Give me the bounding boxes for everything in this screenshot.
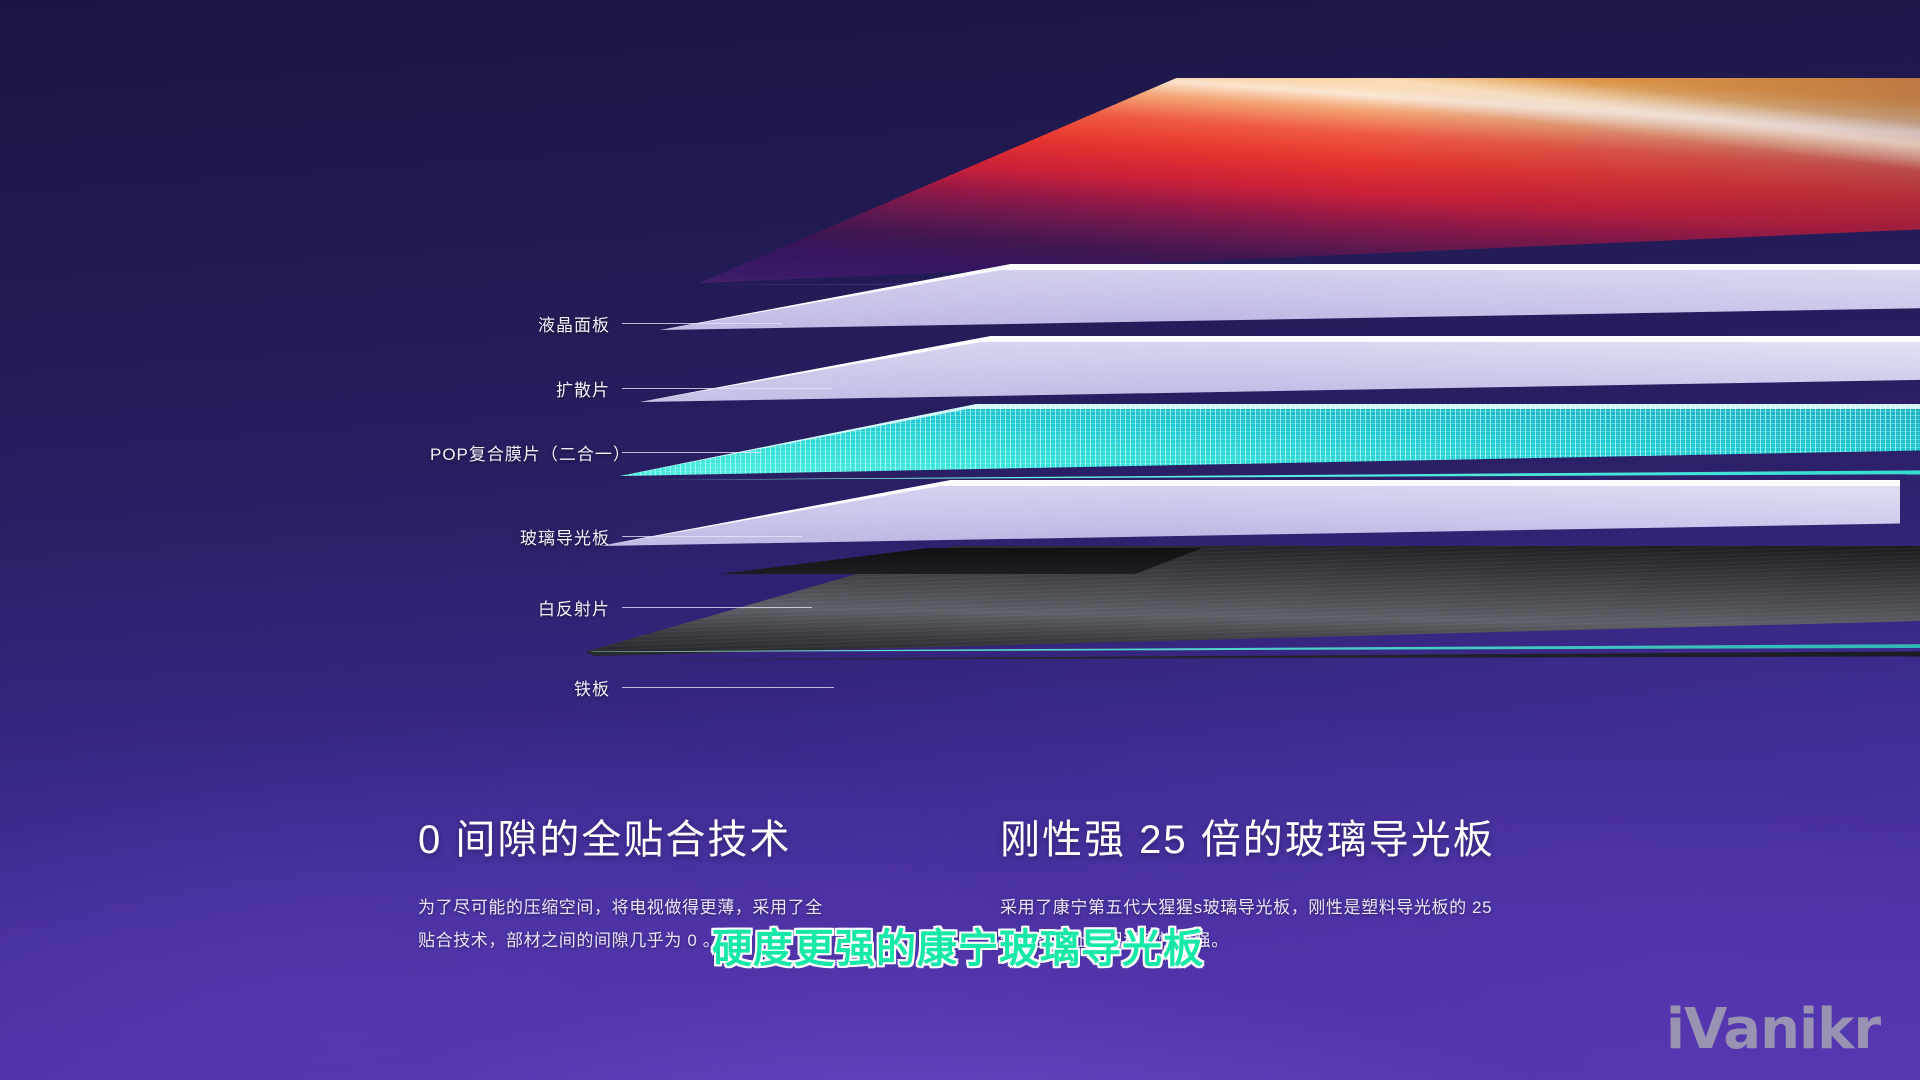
callout-white-reflector-sheet: 白反射片 xyxy=(430,595,812,620)
feature-body-zero-gap-line2: 贴合技术，部材之间的间隙几乎为 0 。 xyxy=(418,931,720,950)
callout-pop-composite-film: POP复合膜片（二合一） xyxy=(430,440,762,465)
diffuser-sheet-surface xyxy=(660,264,1920,330)
feature-body-zero-gap-line1: 为了尽可能的压缩空间，将电视做得更薄，采用了全 xyxy=(418,898,823,917)
leader-line-iron-back-plate xyxy=(622,687,834,688)
leader-line-diffuser-sheet xyxy=(622,388,832,389)
light-guide-dot-pattern xyxy=(620,404,1920,476)
leader-line-glass-light-guide-plate xyxy=(622,536,802,537)
leader-line-pop-composite-film xyxy=(622,452,762,453)
iron-back-plate-notch xyxy=(720,548,1202,574)
lcd-panel-shadow xyxy=(700,78,1920,283)
diffuser-sheet-layer xyxy=(660,264,1920,330)
callout-label-lcd-panel: 液晶面板 xyxy=(538,316,610,335)
product-feature-slide: 液晶面板 扩散片 POP复合膜片（二合一） 玻璃导光板 白反射片 铁板 0 间隙… xyxy=(0,0,1920,1080)
watermark-logo: iVanikr xyxy=(1666,997,1880,1062)
callout-iron-back-plate: 铁板 xyxy=(430,675,834,700)
callout-label-iron-back-plate: 铁板 xyxy=(574,680,610,699)
feature-body-glass-light-guide-line1: 采用了康宁第五代大猩猩s玻璃导光板，刚性是塑料导光板的 25 xyxy=(1000,898,1492,917)
callout-label-white-reflector-sheet: 白反射片 xyxy=(538,600,610,619)
callout-label-glass-light-guide-plate: 玻璃导光板 xyxy=(520,529,610,548)
callout-label-diffuser-sheet: 扩散片 xyxy=(556,381,610,400)
feature-heading-glass-light-guide: 刚性强 25 倍的玻璃导光板 xyxy=(1000,815,1560,865)
pop-composite-film-surface xyxy=(640,336,1920,402)
callout-glass-light-guide-plate: 玻璃导光板 xyxy=(430,524,802,549)
leader-line-white-reflector-sheet xyxy=(622,607,812,608)
callout-lcd-panel: 液晶面板 xyxy=(430,311,782,336)
lcd-panel-layer xyxy=(700,78,1920,283)
overlay-caption-banner: 硬度更强的康宁玻璃导光板 xyxy=(712,916,1204,974)
callout-diffuser-sheet: 扩散片 xyxy=(430,376,832,401)
callout-label-pop-composite-film: POP复合膜片（二合一） xyxy=(430,445,631,464)
pop-composite-film-layer xyxy=(640,336,1920,402)
feature-heading-zero-gap: 0 间隙的全贴合技术 xyxy=(418,815,938,865)
exploded-layer-stack xyxy=(0,0,1920,760)
glass-light-guide-plate-layer xyxy=(620,404,1920,476)
leader-line-lcd-panel xyxy=(622,323,782,324)
